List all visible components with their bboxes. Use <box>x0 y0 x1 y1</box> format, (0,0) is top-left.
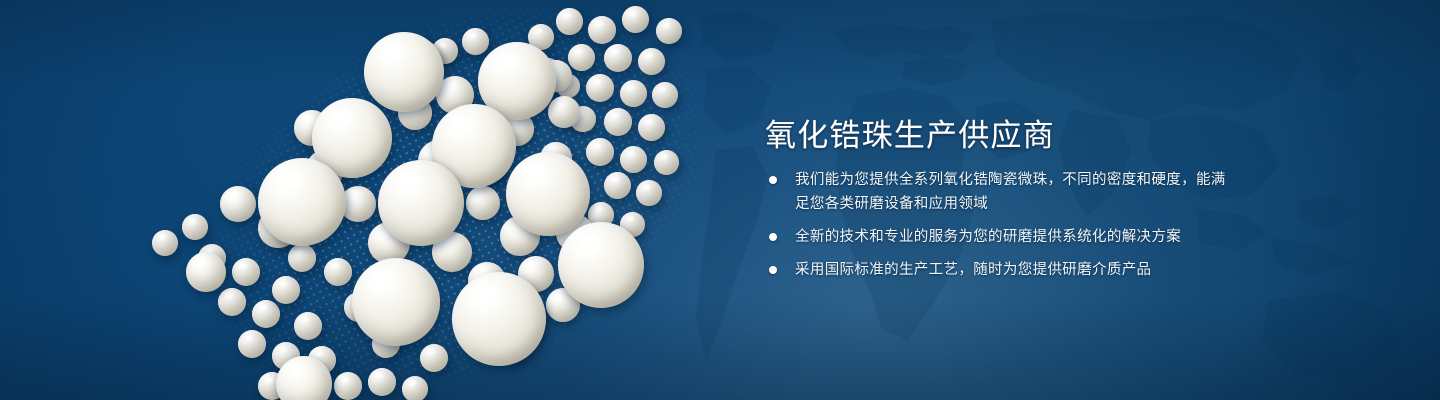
bead-medium <box>220 186 256 222</box>
bead-small <box>334 372 362 400</box>
bullet-dot-icon <box>769 233 777 241</box>
bead-small <box>556 8 583 35</box>
list-item-text: 采用国际标准的生产工艺，随时为您提供研磨介质产品 <box>795 262 1151 278</box>
bead-small <box>462 28 489 55</box>
bead-small <box>604 172 631 199</box>
bead-medium <box>548 96 580 128</box>
bead-large <box>352 258 440 346</box>
list-item-text: 全新的技术和专业的服务为您的研磨提供系统化的解决方案 <box>795 229 1181 245</box>
zirconia-beads-cluster <box>0 0 740 400</box>
bead-small <box>288 244 316 272</box>
bead-small <box>238 330 266 358</box>
bead-small <box>420 344 448 372</box>
bead-small <box>324 258 352 286</box>
bead-small <box>620 80 647 107</box>
bead-small <box>586 74 614 102</box>
bead-small <box>656 18 682 44</box>
bead-large <box>378 160 464 246</box>
bead-small <box>652 82 678 108</box>
bead-large <box>558 222 644 308</box>
bead-small <box>152 230 178 256</box>
feature-list: 我们能为您提供全系列氧化锆陶瓷微珠，不同的密度和硬度，能满足您各类研磨设备和应用… <box>765 168 1235 282</box>
bead-medium <box>186 252 226 292</box>
list-item: 采用国际标准的生产工艺，随时为您提供研磨介质产品 <box>765 258 1235 282</box>
bead-small <box>638 114 665 141</box>
list-item-text: 我们能为您提供全系列氧化锆陶瓷微珠，不同的密度和硬度，能满足您各类研磨设备和应用… <box>795 172 1226 212</box>
bead-medium <box>466 186 500 220</box>
bead-small <box>218 288 246 316</box>
bead-small <box>272 276 300 304</box>
bead-small <box>232 258 260 286</box>
bead-small <box>182 214 208 240</box>
bead-small <box>586 138 614 166</box>
bead-small <box>620 146 647 173</box>
bullet-dot-icon <box>769 266 777 274</box>
hero-banner: 氧化锆珠生产供应商 我们能为您提供全系列氧化锆陶瓷微珠，不同的密度和硬度，能满足… <box>0 0 1440 400</box>
bead-small <box>636 180 662 206</box>
bead-small <box>252 300 280 328</box>
bead-large <box>452 272 546 366</box>
page-title: 氧化锆珠生产供应商 <box>765 110 1055 155</box>
bead-small <box>368 368 396 396</box>
bead-small <box>294 312 322 340</box>
bead-small <box>604 108 632 136</box>
bead-small <box>604 44 632 72</box>
list-item: 我们能为您提供全系列氧化锆陶瓷微珠，不同的密度和硬度，能满足您各类研磨设备和应用… <box>765 168 1235 216</box>
bead-small <box>654 150 679 175</box>
list-item: 全新的技术和专业的服务为您的研磨提供系统化的解决方案 <box>765 225 1235 249</box>
bead-large <box>258 158 346 246</box>
bullet-dot-icon <box>769 176 777 184</box>
bead-large <box>364 32 444 112</box>
bead-small <box>402 376 428 400</box>
banner-content: 氧化锆珠生产供应商 我们能为您提供全系列氧化锆陶瓷微珠，不同的密度和硬度，能满足… <box>765 0 1285 400</box>
bead-large <box>506 152 590 236</box>
bead-small <box>588 16 616 44</box>
bead-small <box>568 44 595 71</box>
bead-small <box>622 6 649 33</box>
bead-small <box>638 48 665 75</box>
